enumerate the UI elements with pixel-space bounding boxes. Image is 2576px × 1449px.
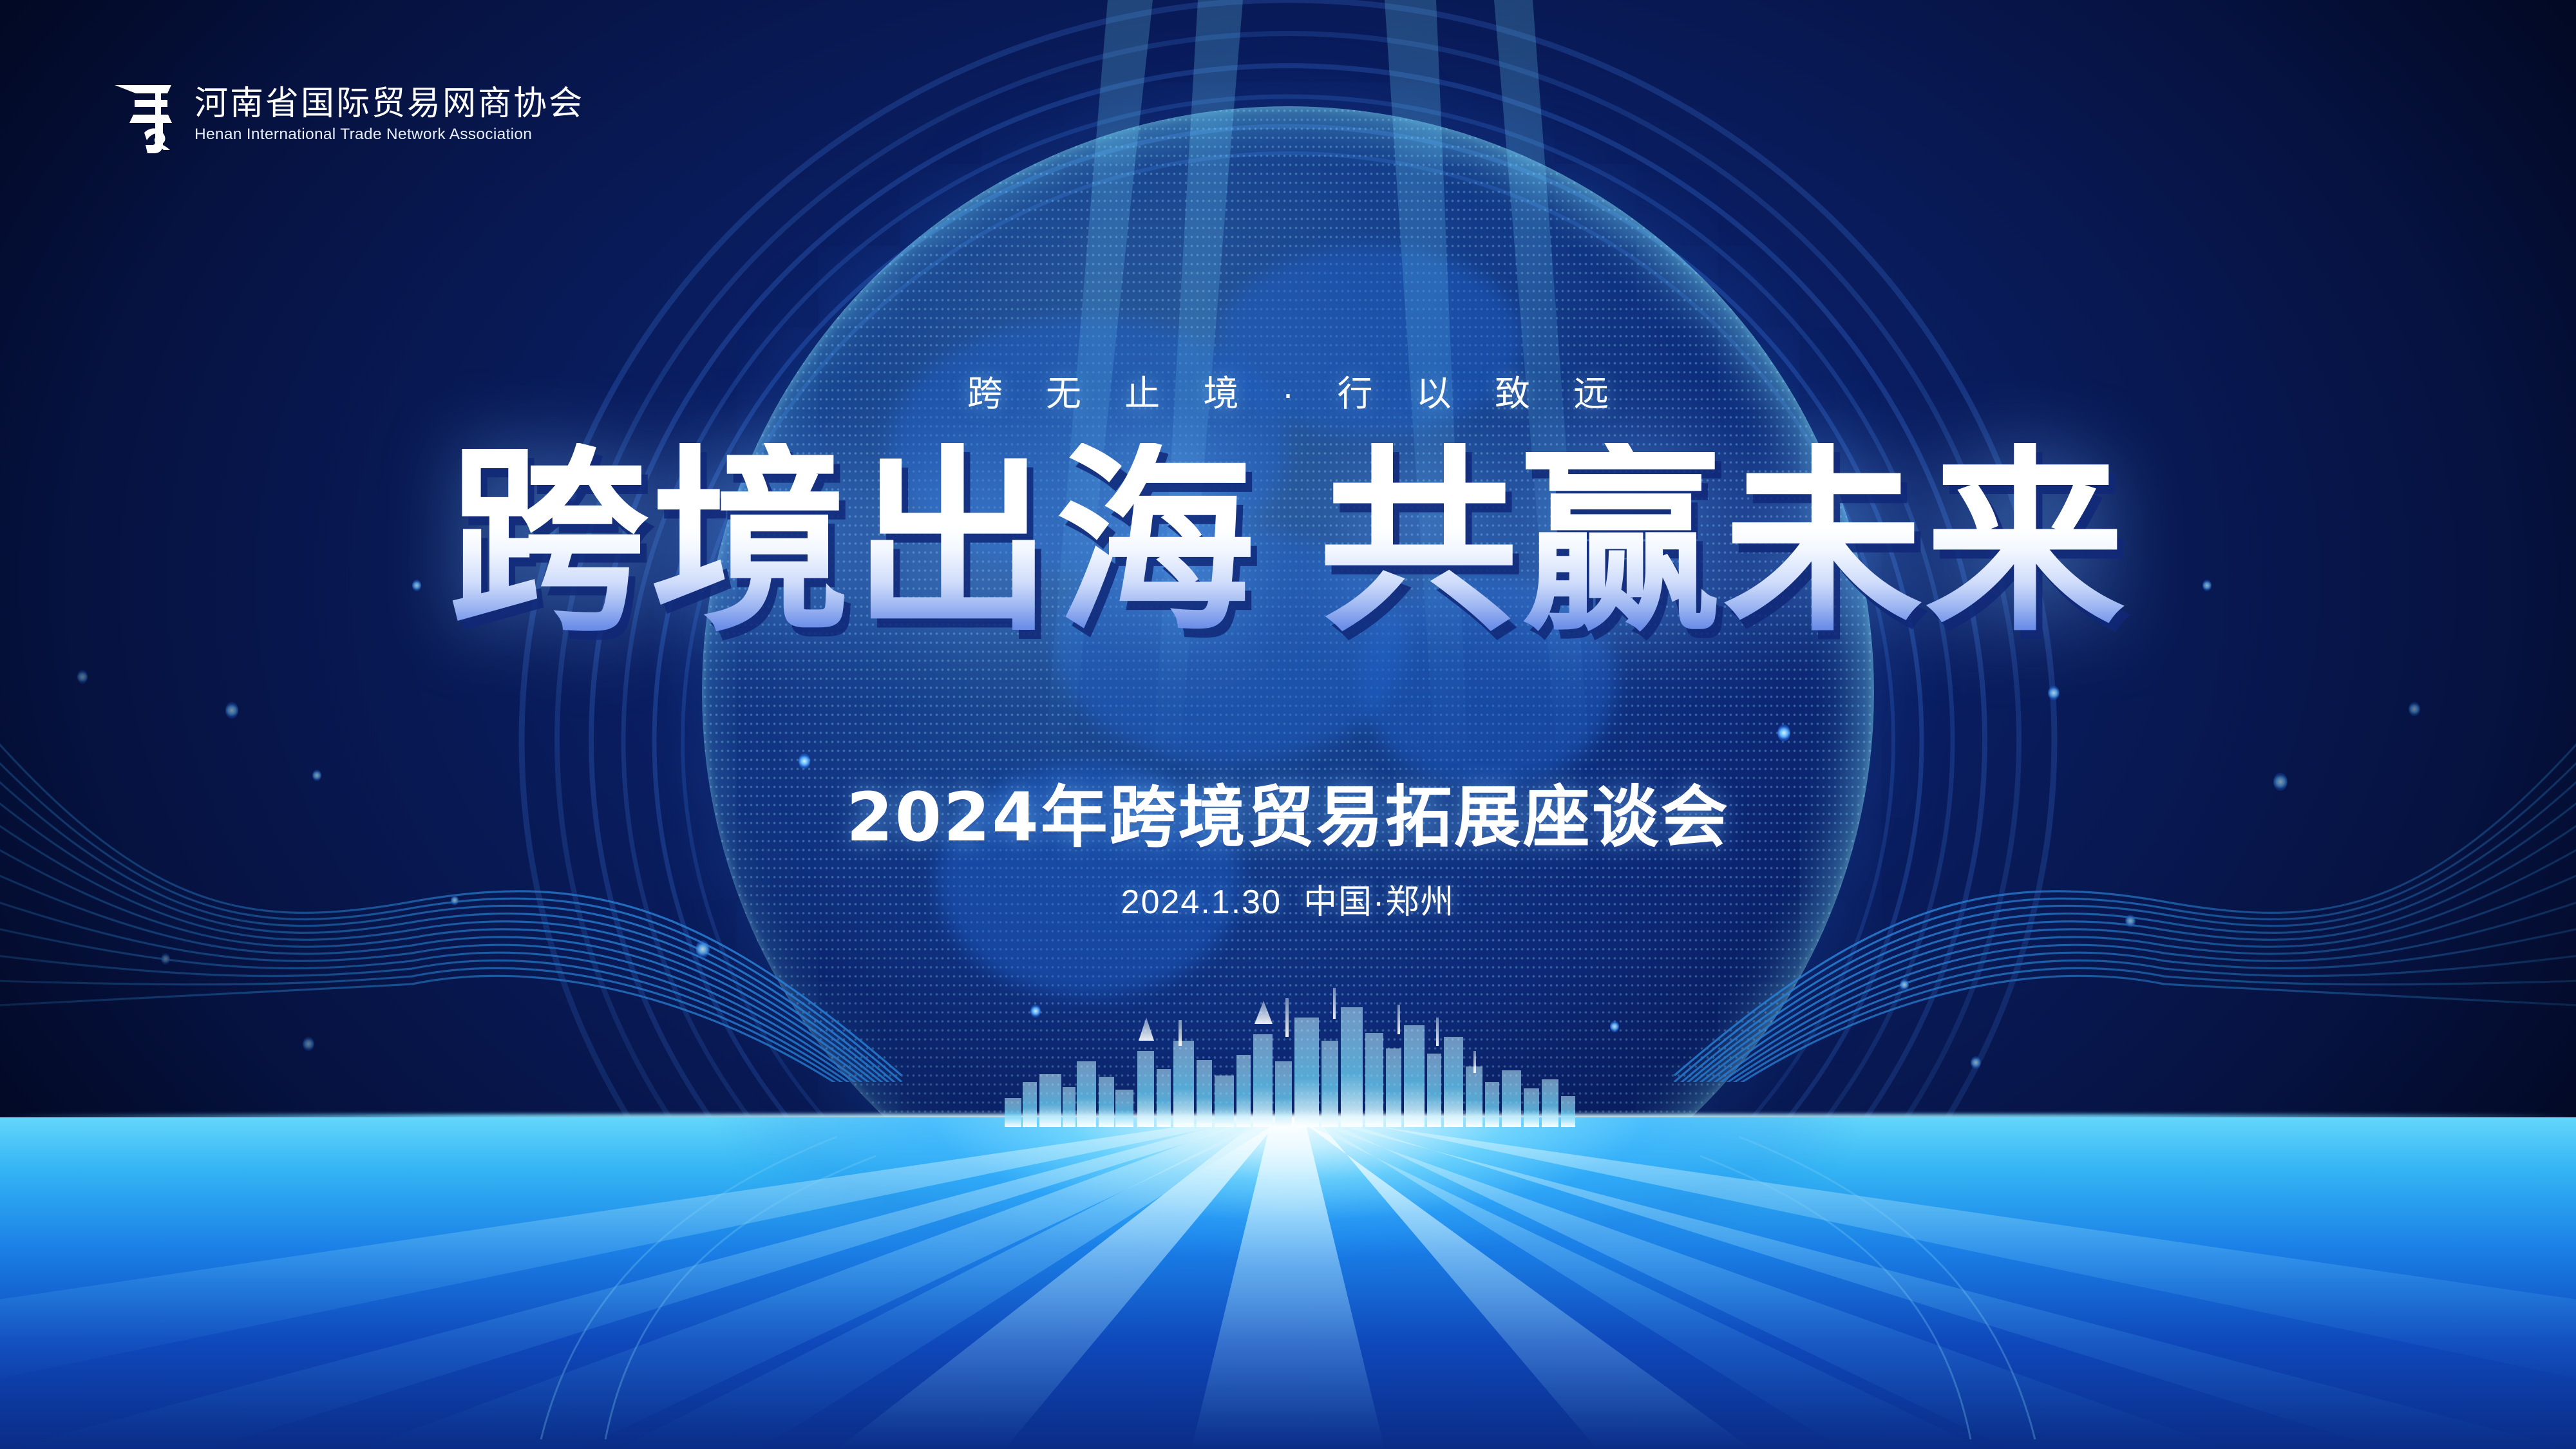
headline-part-2: 共赢未来 <box>1319 443 2128 643</box>
association-logo: 河南省国际贸易网商协会 Henan International Trade Ne… <box>108 76 584 153</box>
event-date: 2024.1.30 <box>1121 884 1282 921</box>
page-title: 跨境出海共赢未来 <box>0 443 2576 643</box>
event-location: 中国·郑州 <box>1303 884 1455 921</box>
headline-part-1: 跨境出海 <box>449 443 1258 643</box>
event-meta: 2024.1.30中国·郑州 <box>0 875 2576 923</box>
org-name-cn: 河南省国际贸易网商协会 <box>194 85 584 124</box>
seal-emblem-icon <box>108 76 178 153</box>
event-poster: 河南省国际贸易网商协会 Henan International Trade Ne… <box>0 0 2576 1449</box>
org-name-en: Henan International Trade Network Associ… <box>194 125 584 144</box>
tagline: 跨 无 止 境 · 行 以 致 远 <box>0 365 2576 416</box>
event-subtitle: 2024年跨境贸易拓展座谈会 <box>0 762 2576 860</box>
